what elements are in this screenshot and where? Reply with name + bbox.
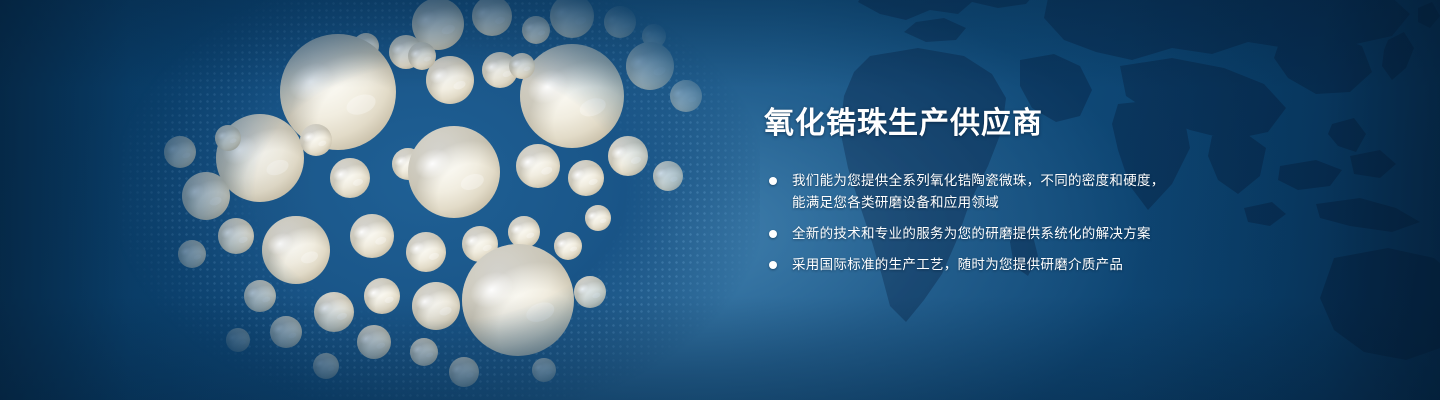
banner-feature-list: 我们能为您提供全系列氧化锆陶瓷微珠，不同的密度和硬度， 能满足您各类研磨设备和应… (764, 170, 1364, 276)
list-item: 我们能为您提供全系列氧化锆陶瓷微珠，不同的密度和硬度， 能满足您各类研磨设备和应… (764, 170, 1364, 214)
banner-text-column: 氧化锆珠生产供应商 我们能为您提供全系列氧化锆陶瓷微珠，不同的密度和硬度， 能满… (764, 104, 1364, 276)
list-item: 采用国际标准的生产工艺，随时为您提供研磨介质产品 (764, 254, 1364, 276)
bullet-line: 全新的技术和专业的服务为您的研磨提供系统化的解决方案 (792, 223, 1364, 245)
bullet-line: 我们能为您提供全系列氧化锆陶瓷微珠，不同的密度和硬度， (792, 170, 1364, 192)
banner-headline: 氧化锆珠生产供应商 (764, 104, 1364, 144)
list-item: 全新的技术和专业的服务为您的研磨提供系统化的解决方案 (764, 223, 1364, 245)
bullet-dot-icon (769, 230, 777, 238)
bullet-dot-icon (769, 177, 777, 185)
hero-banner: 氧化锆珠生产供应商 我们能为您提供全系列氧化锆陶瓷微珠，不同的密度和硬度， 能满… (0, 0, 1440, 400)
bullet-line: 采用国际标准的生产工艺，随时为您提供研磨介质产品 (792, 254, 1364, 276)
bullet-dot-icon (769, 261, 777, 269)
bullet-line: 能满足您各类研磨设备和应用领域 (792, 192, 1364, 214)
